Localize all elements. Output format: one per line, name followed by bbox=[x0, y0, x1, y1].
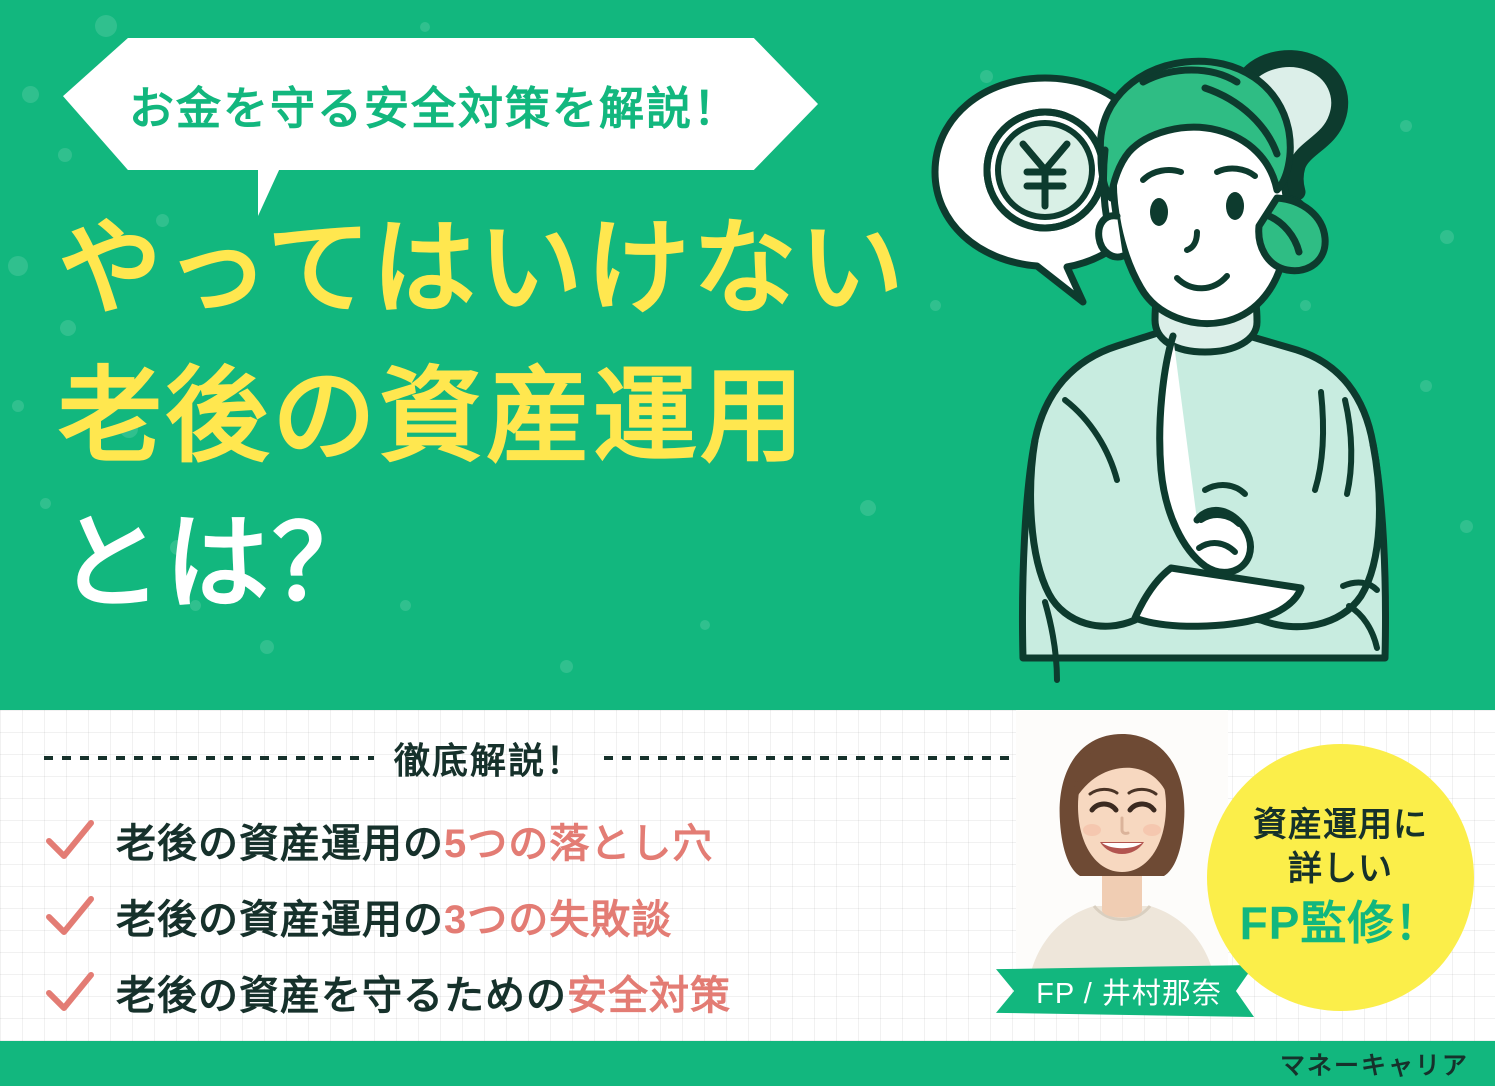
list-item-highlight: 3つの失敗談 bbox=[444, 898, 672, 942]
list-item-text: 老後の資産運用の5つの落とし穴 bbox=[116, 811, 713, 869]
title-line-1: やってはいけない bbox=[58, 196, 958, 344]
fp-badge-line-2: 詳しい bbox=[1288, 848, 1393, 891]
list-item-highlight: 5つの落とし穴 bbox=[444, 822, 713, 866]
list-item-plain: 老後の資産を守るための bbox=[116, 974, 567, 1018]
footer-bar: マネーキャリア bbox=[0, 1041, 1495, 1086]
fp-supervision-badge: 資産運用に 詳しい FP監修！ bbox=[1207, 744, 1474, 1011]
list-item: 老後の資産を守るための安全対策 bbox=[44, 954, 1004, 1030]
speech-bubble: お金を守る安全対策を解説！ bbox=[63, 38, 818, 170]
page-title: やってはいけない 老後の資産運用 とは？ bbox=[58, 196, 958, 639]
thinking-woman-illustration bbox=[905, 20, 1495, 700]
article-thumbnail-banner: お金を守る安全対策を解説！ やってはいけない 老後の資産運用 とは？ bbox=[0, 0, 1495, 1086]
dotted-rule-right bbox=[604, 756, 1044, 760]
fp-name-ribbon: FP / 井村那奈 bbox=[996, 965, 1254, 1017]
list-item: 老後の資産運用の3つの失敗談 bbox=[44, 878, 1004, 954]
fp-name-label: FP / 井村那奈 bbox=[1036, 970, 1222, 1012]
list-item-plain: 老後の資産運用の bbox=[116, 822, 444, 866]
title-line-2: 老後の資産運用 bbox=[58, 344, 958, 492]
brand-logo: マネーキャリア bbox=[1280, 1046, 1469, 1082]
hero-section: お金を守る安全対策を解説！ やってはいけない 老後の資産運用 とは？ bbox=[0, 0, 1495, 710]
list-item-text: 老後の資産を守るための安全対策 bbox=[116, 963, 731, 1021]
list-item-text: 老後の資産運用の3つの失敗談 bbox=[116, 887, 672, 945]
check-icon bbox=[44, 966, 96, 1018]
list-item-highlight: 安全対策 bbox=[567, 974, 731, 1018]
fp-portrait-photo bbox=[1016, 710, 1228, 1000]
speech-bubble-text: お金を守る安全対策を解説！ bbox=[129, 72, 740, 137]
panel-header-label: 徹底解説！ bbox=[394, 732, 584, 784]
checklist: 老後の資産運用の5つの落とし穴 老後の資産運用の3つの失敗談 老後の資産を守るた… bbox=[44, 802, 1004, 1030]
list-item: 老後の資産運用の5つの落とし穴 bbox=[44, 802, 1004, 878]
fp-badge-line-3: FP監修！ bbox=[1240, 896, 1442, 951]
dotted-rule-left bbox=[44, 756, 374, 760]
fp-badge-line-1: 資産運用に bbox=[1253, 804, 1428, 847]
check-icon bbox=[44, 890, 96, 942]
check-icon bbox=[44, 814, 96, 866]
panel-header: 徹底解説！ bbox=[44, 732, 1044, 784]
title-line-3: とは？ bbox=[58, 491, 958, 639]
list-item-plain: 老後の資産運用の bbox=[116, 898, 444, 942]
details-panel: 徹底解説！ 老後の資産運用の5つの落とし穴 老後の資産運用の3つの失敗談 bbox=[0, 710, 1495, 1041]
